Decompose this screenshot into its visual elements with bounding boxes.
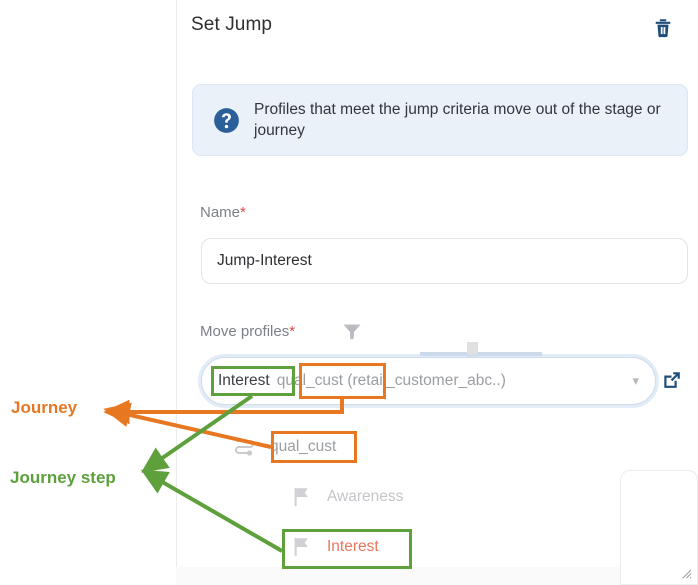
help-circle-icon bbox=[213, 107, 240, 134]
chevron-down-icon[interactable]: ▾ bbox=[624, 373, 639, 389]
dropdown-top-rule bbox=[420, 352, 542, 356]
panel-divider bbox=[176, 0, 177, 585]
selected-journey-text: qual_cust (retail_customer_abc..) bbox=[277, 372, 506, 390]
name-field-label: Name* bbox=[200, 204, 246, 221]
selected-step-tag: Interest bbox=[218, 372, 270, 390]
name-input[interactable] bbox=[201, 238, 688, 284]
open-external-button[interactable] bbox=[660, 368, 686, 394]
funnel-icon[interactable] bbox=[340, 320, 364, 344]
move-profiles-label-text: Move profiles bbox=[200, 323, 289, 340]
annotation-label-journey: Journey bbox=[11, 398, 77, 418]
dropdown-step-label: Awareness bbox=[327, 488, 403, 506]
info-banner-text: Profiles that meet the jump criteria mov… bbox=[254, 99, 667, 141]
annotation-label-journey-step: Journey step bbox=[10, 468, 116, 488]
info-banner: Profiles that meet the jump criteria mov… bbox=[192, 84, 688, 156]
move-profiles-select[interactable]: Interest qual_cust (retail_customer_abc.… bbox=[201, 357, 656, 405]
secondary-panel bbox=[620, 470, 698, 585]
resize-handle-icon[interactable] bbox=[681, 568, 692, 579]
trash-icon bbox=[652, 17, 674, 39]
page-title: Set Jump bbox=[191, 14, 272, 36]
flag-icon bbox=[292, 536, 312, 558]
dropdown-step-interest[interactable]: Interest bbox=[292, 536, 379, 558]
move-profiles-label: Move profiles* bbox=[200, 323, 295, 340]
dropdown-step-label: Interest bbox=[327, 538, 379, 556]
delete-button[interactable] bbox=[650, 15, 676, 41]
dropdown-journey-label: qual_cust bbox=[270, 438, 336, 456]
screenshot-root: Set Jump Profiles that meet the jump cri… bbox=[0, 0, 698, 585]
external-link-icon bbox=[660, 368, 684, 392]
journey-flow-icon bbox=[232, 436, 258, 458]
name-required-marker: * bbox=[240, 204, 246, 221]
flag-icon bbox=[292, 486, 312, 508]
move-profiles-required-marker: * bbox=[289, 323, 295, 340]
dropdown-journey-row[interactable]: qual_cust bbox=[232, 436, 336, 458]
dropdown-step-awareness[interactable]: Awareness bbox=[292, 486, 403, 508]
name-label-text: Name bbox=[200, 204, 240, 221]
